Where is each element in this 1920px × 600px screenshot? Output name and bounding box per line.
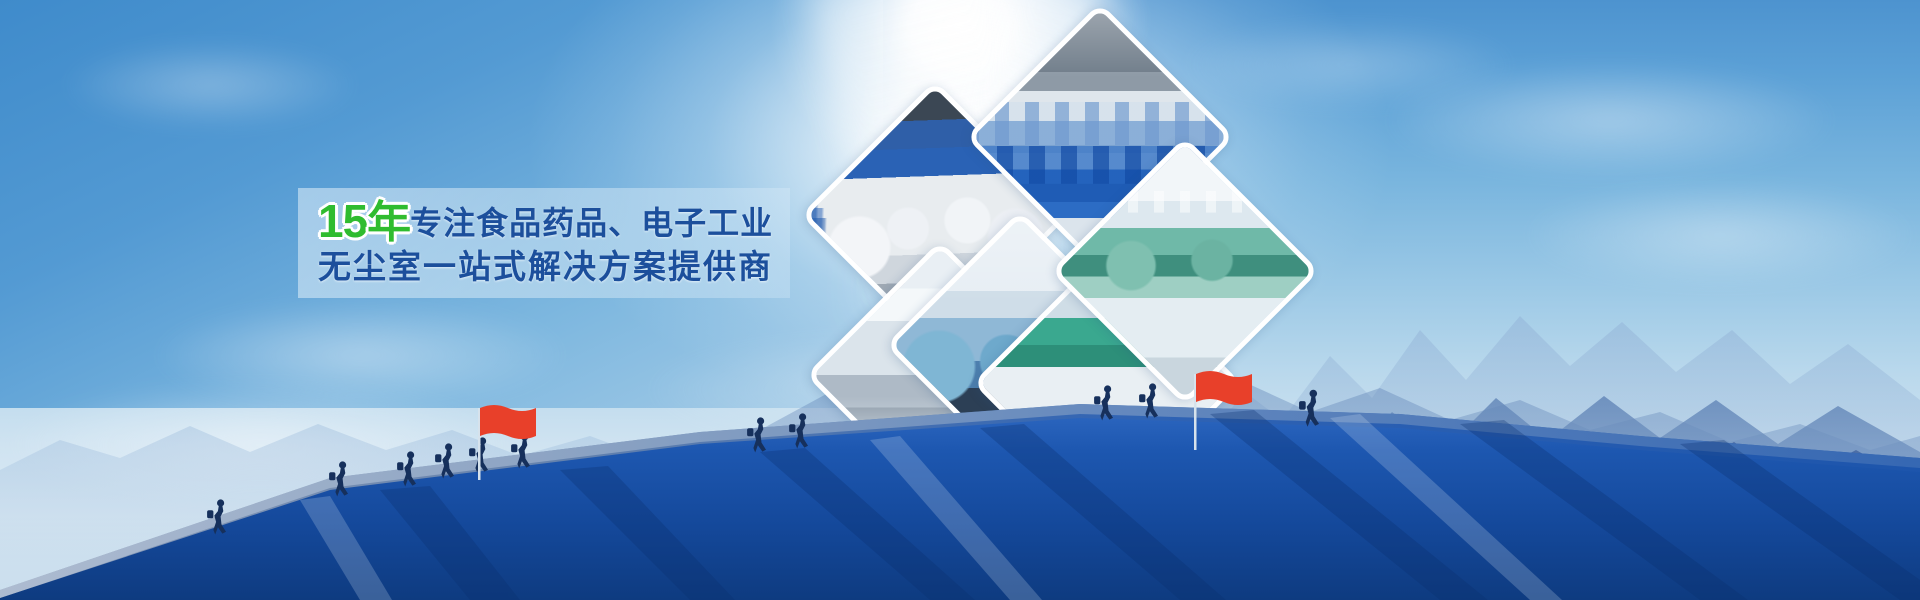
headline-block: 15年专注食品药品、电子工业 无尘室一站式解决方案提供商 (318, 198, 788, 298)
diamond-photo-cluster (840, 80, 1300, 480)
headline-line-1-text: 专注食品药品、电子工业 (410, 205, 773, 241)
headline-line-1: 15年专注食品药品、电子工业 (318, 198, 788, 246)
years-number: 15 (318, 195, 367, 247)
cloud-5 (1520, 180, 1920, 290)
hero-banner: 15年专注食品药品、电子工业 无尘室一站式解决方案提供商 (0, 0, 1920, 600)
summit-flag-left (478, 405, 536, 480)
cloud-4 (1380, 60, 1840, 180)
years-unit: 年 (367, 198, 410, 247)
climber-group-left (207, 433, 530, 534)
headline-line-2-text: 无尘室一站式解决方案提供商 (318, 248, 773, 285)
headline-line-2: 无尘室一站式解决方案提供商 (318, 250, 788, 298)
years-badge: 15年 (318, 198, 410, 247)
